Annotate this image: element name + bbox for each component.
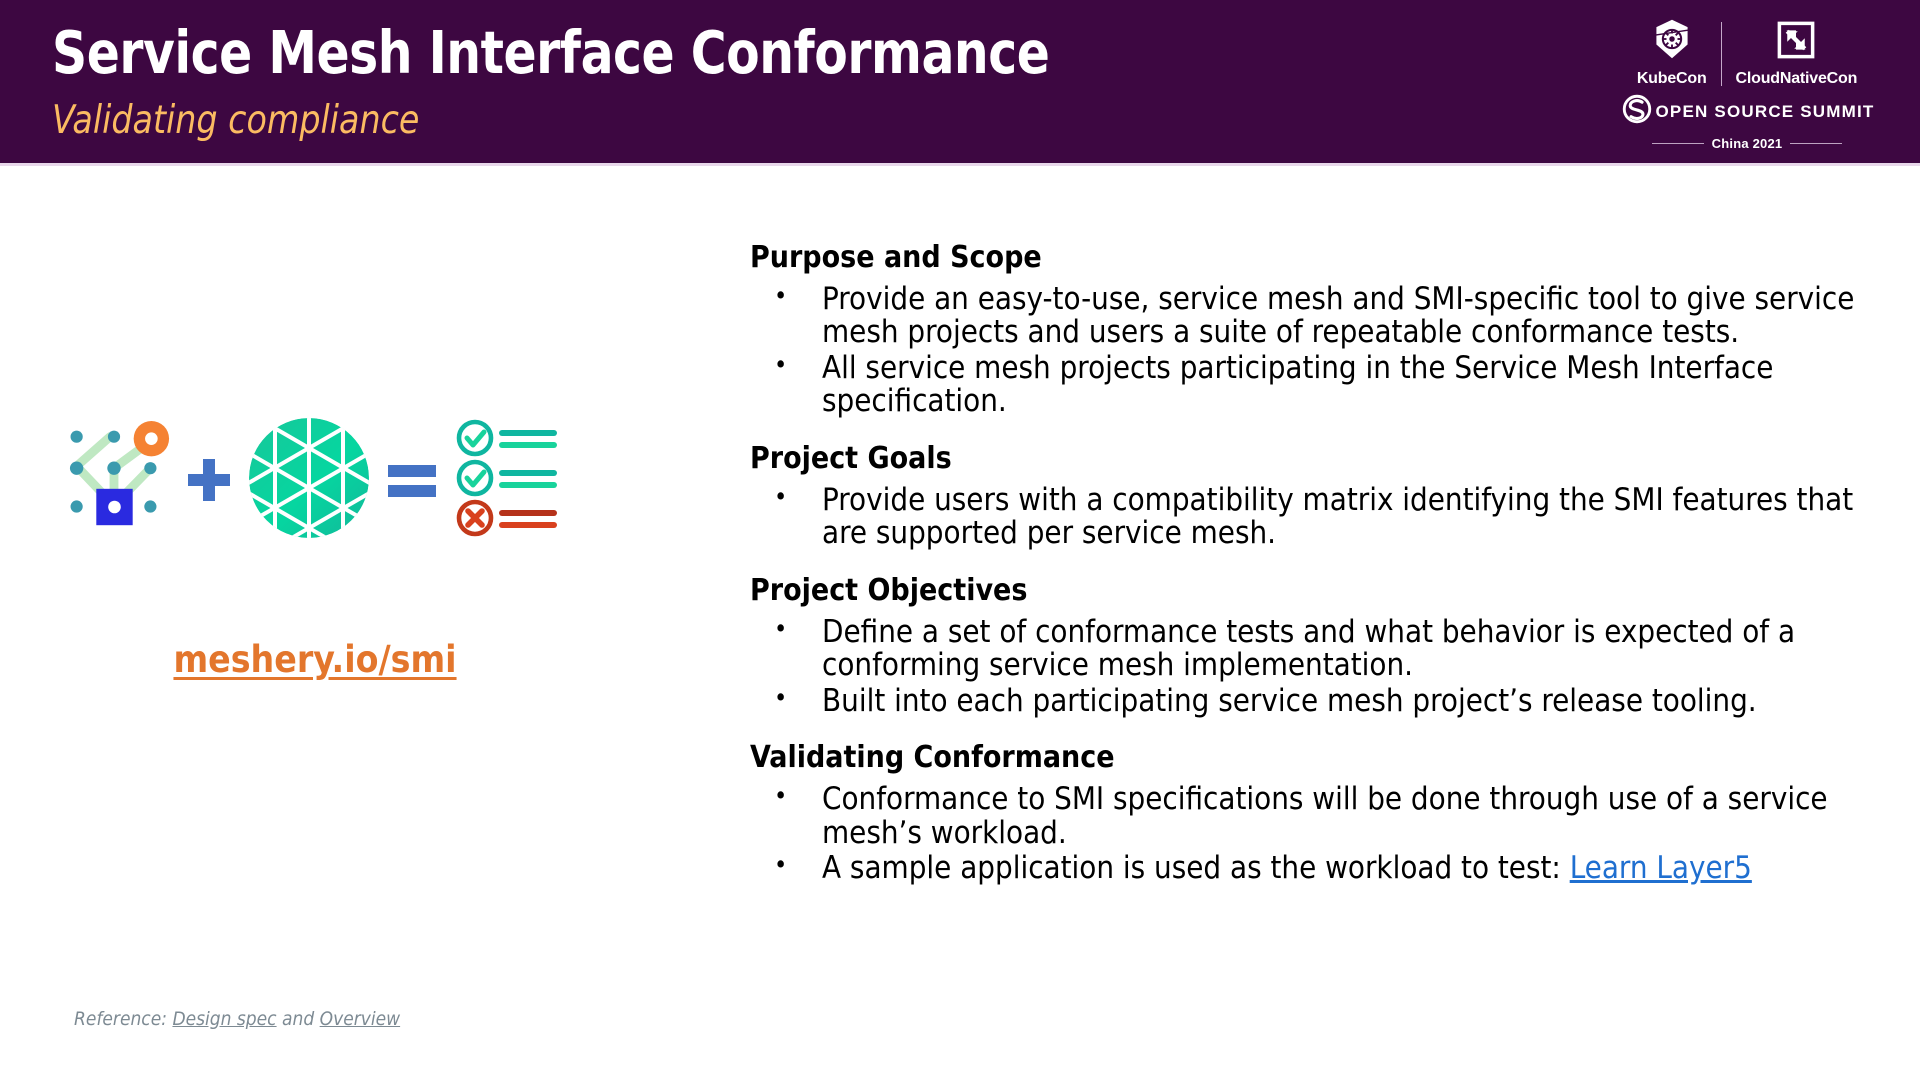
cloudnativecon-logo-group: CloudNativeCon	[1724, 19, 1870, 88]
equation-graphic	[55, 410, 635, 550]
meshery-logo	[55, 419, 173, 542]
reference-prefix: Reference:	[74, 1008, 167, 1030]
bullet-list-validating-conformance: Conformance to SMI specifications will b…	[750, 783, 1880, 885]
cncf-square-icon	[1775, 19, 1817, 66]
bullet-list-project-objectives: Define a set of conformance tests and wh…	[750, 616, 1880, 718]
conformance-results-icon	[451, 419, 561, 542]
list-item: Define a set of conformance tests and wh…	[750, 616, 1880, 683]
list-item: Conformance to SMI specifications will b…	[750, 783, 1880, 850]
service-mesh-sphere-icon	[245, 414, 373, 547]
list-item: Provide an easy-to-use, service mesh and…	[750, 283, 1880, 350]
page-subtitle: Validating compliance	[52, 98, 419, 143]
kubecon-label: KubeCon	[1637, 70, 1707, 88]
list-item: All service mesh projects participating …	[750, 352, 1880, 419]
logo-top-row: KubeCon CloudNativeCon	[1622, 8, 1872, 88]
reference-conjunction: and	[282, 1008, 314, 1030]
section-heading-project-objectives: Project Objectives	[750, 573, 1880, 608]
cloudnativecon-label: CloudNativeCon	[1736, 70, 1858, 88]
conference-logo: KubeCon CloudNativeCon	[1622, 8, 1872, 148]
list-item-with-link: A sample application is used as the work…	[750, 852, 1880, 885]
logo-divider	[1721, 22, 1722, 86]
section-heading-validating-conformance: Validating Conformance	[750, 740, 1880, 775]
learn-layer5-link[interactable]: Learn Layer5	[1570, 850, 1752, 886]
rule-right	[1790, 143, 1842, 144]
list-item-text: A sample application is used as the work…	[822, 850, 1570, 886]
bullet-list-project-goals: Provide users with a compatibility matri…	[750, 484, 1880, 551]
slide-root: Service Mesh Interface Conformance Valid…	[0, 0, 1920, 1080]
section-heading-purpose-and-scope: Purpose and Scope	[750, 240, 1880, 275]
plus-operator-icon	[173, 452, 245, 508]
content-column: Purpose and Scope Provide an easy-to-use…	[750, 240, 1880, 888]
section-heading-project-goals: Project Goals	[750, 441, 1880, 476]
summit-label: OPEN SOURCE SUMMIT	[1656, 102, 1875, 122]
reference-design-spec-link[interactable]: Design spec	[172, 1008, 276, 1030]
list-item: Built into each participating service me…	[750, 685, 1880, 718]
reference-overview-link[interactable]: Overview	[320, 1008, 400, 1030]
summit-location-label: China 2021	[1712, 136, 1783, 151]
header-underline-rule	[0, 163, 1920, 166]
open-source-summit-row: OPEN SOURCE SUMMIT	[1622, 92, 1872, 131]
reference-footnote: Reference: Design spec and Overview	[74, 1008, 400, 1030]
summit-location-row: China 2021	[1622, 136, 1872, 151]
rule-left	[1652, 143, 1704, 144]
meshery-smi-link[interactable]: meshery.io/smi	[55, 638, 575, 681]
list-item: Provide users with a compatibility matri…	[750, 484, 1880, 551]
equals-operator-icon	[373, 458, 451, 502]
bullet-list-purpose-and-scope: Provide an easy-to-use, service mesh and…	[750, 283, 1880, 419]
summit-s-icon	[1620, 92, 1654, 131]
kubecon-logo-group: KubeCon	[1625, 17, 1719, 88]
page-title: Service Mesh Interface Conformance	[52, 18, 1049, 87]
kubernetes-helm-icon	[1650, 17, 1694, 66]
